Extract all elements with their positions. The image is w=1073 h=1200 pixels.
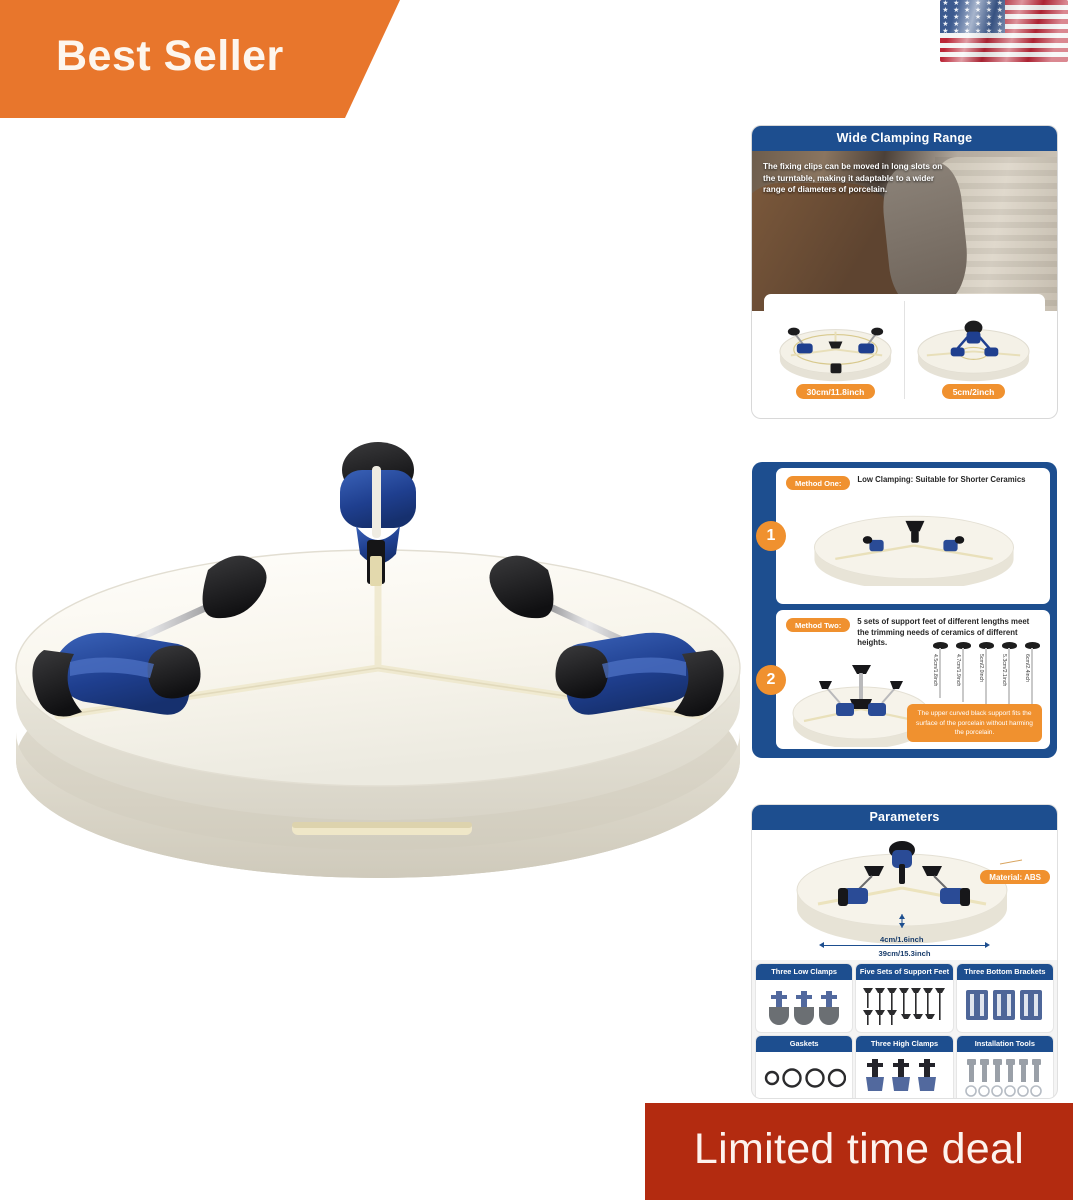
disc-wide-illustration [771, 301, 900, 384]
limited-time-deal-label: Limited time deal [694, 1125, 1024, 1174]
part-icons [756, 1052, 852, 1098]
bottom-bracket-icon [964, 986, 1046, 1026]
flag-wave-shading [940, 0, 1068, 62]
best-seller-label: Best Seller [56, 32, 284, 81]
part-card-high-clamps: Three High Clamps [856, 1036, 952, 1098]
part-icons [856, 980, 952, 1032]
panel-title-parameters: Parameters [752, 805, 1057, 830]
parameters-diagram: Material: ABS 4cm/1.6inch 39cm/15.3inch [752, 830, 1057, 960]
panel-wide-clamping-range: Wide Clamping Range The fixing clips can… [752, 126, 1057, 418]
turntable-illustration [0, 430, 760, 910]
range-label-large: 30cm/11.8inch [796, 384, 876, 399]
step-badge-two: 2 [756, 665, 786, 695]
range-example-large: 30cm/11.8inch [771, 301, 900, 399]
limited-time-deal-banner: Limited time deal [645, 1103, 1073, 1200]
range-example-small: 5cm/2inch [909, 301, 1038, 399]
disc-narrow-illustration [909, 301, 1038, 384]
support-note: The upper curved black support fits the … [907, 704, 1042, 742]
method-one-illustration [786, 490, 1042, 586]
step-badge-one: 1 [756, 521, 786, 551]
diameter-dimension-line [824, 945, 985, 946]
clamping-range-examples: 30cm/11.8inch 5cm/2inch [764, 294, 1045, 406]
panel-title-clamping: Wide Clamping Range [752, 126, 1057, 151]
part-icons [856, 1052, 952, 1098]
range-label-small: 5cm/2inch [942, 384, 1006, 399]
potter-photo: The fixing clips can be moved in long sl… [752, 151, 1057, 311]
part-icons [957, 1052, 1053, 1098]
low-clamp-icon [765, 985, 843, 1027]
part-card-low-clamps: Three Low Clamps [756, 964, 852, 1032]
method-two-card: 2 Method Two: 5 sets of support feet of … [776, 610, 1050, 749]
part-icons [756, 980, 852, 1032]
panel-clamping-methods: 1 Method One: Low Clamping: Suitable for… [752, 462, 1057, 758]
part-icons [957, 980, 1053, 1032]
range-disc-small [909, 301, 1038, 384]
part-title: Three High Clamps [856, 1036, 952, 1052]
parts-grid: Three Low Clamps Five Sets of Support Fe… [752, 960, 1057, 1098]
support-foot-rod [985, 648, 987, 706]
potter-arm [752, 183, 898, 311]
part-title: Three Bottom Brackets [957, 964, 1053, 980]
method-one-card: 1 Method One: Low Clamping: Suitable for… [776, 468, 1050, 604]
part-card-installation-tools: Installation Tools [957, 1036, 1053, 1098]
part-card-gaskets: Gaskets [756, 1036, 852, 1098]
part-title: Three Low Clamps [756, 964, 852, 980]
part-card-support-feet: Five Sets of Support Feet [856, 964, 952, 1032]
panel-parameters: Parameters Material: ABS 4cm/1.6inch 39c… [752, 805, 1057, 1098]
height-dimension-label: 4cm/1.6inch [880, 935, 923, 944]
support-foot-rod [962, 648, 964, 702]
clamping-caption: The fixing clips can be moved in long sl… [763, 161, 952, 196]
method-one-text: Low Clamping: Suitable for Shorter Ceram… [857, 475, 1025, 486]
support-foot-label: 5cm/2.0inch [978, 654, 984, 682]
product-hero-image [0, 430, 760, 910]
part-title: Five Sets of Support Feet [856, 964, 952, 980]
method-one-pill: Method One: [786, 476, 850, 490]
support-foot-label: 5.3cm/2.1inch [1001, 654, 1007, 686]
screw-tool-icon [963, 1057, 1047, 1098]
support-foot-label: 4.7cm/1.9inch [955, 654, 961, 686]
support-foot-rod [939, 648, 941, 698]
range-divider [904, 301, 905, 399]
range-disc-large [771, 301, 900, 384]
diameter-dimension-label: 39cm/15.3inch [752, 949, 1057, 958]
support-foot-rod [1008, 648, 1010, 710]
support-foot-label: 4.5cm/1.8inch [932, 654, 938, 686]
part-title: Installation Tools [957, 1036, 1053, 1052]
high-clamp-icon [864, 1057, 944, 1098]
best-seller-banner: Best Seller [0, 0, 400, 118]
gasket-icon [762, 1063, 846, 1093]
material-label: Material: ABS [980, 870, 1050, 884]
support-foot-label: 6cm/2.4inch [1024, 654, 1030, 682]
support-feet-icon [861, 984, 947, 1028]
us-flag-icon: ★★★★★★ ★★★★★★ ★★★★★★ ★★★★★★ ★★★★★★ [940, 0, 1068, 62]
part-title: Gaskets [756, 1036, 852, 1052]
method-two-pill: Method Two: [786, 618, 850, 632]
part-card-bottom-brackets: Three Bottom Brackets [957, 964, 1053, 1032]
